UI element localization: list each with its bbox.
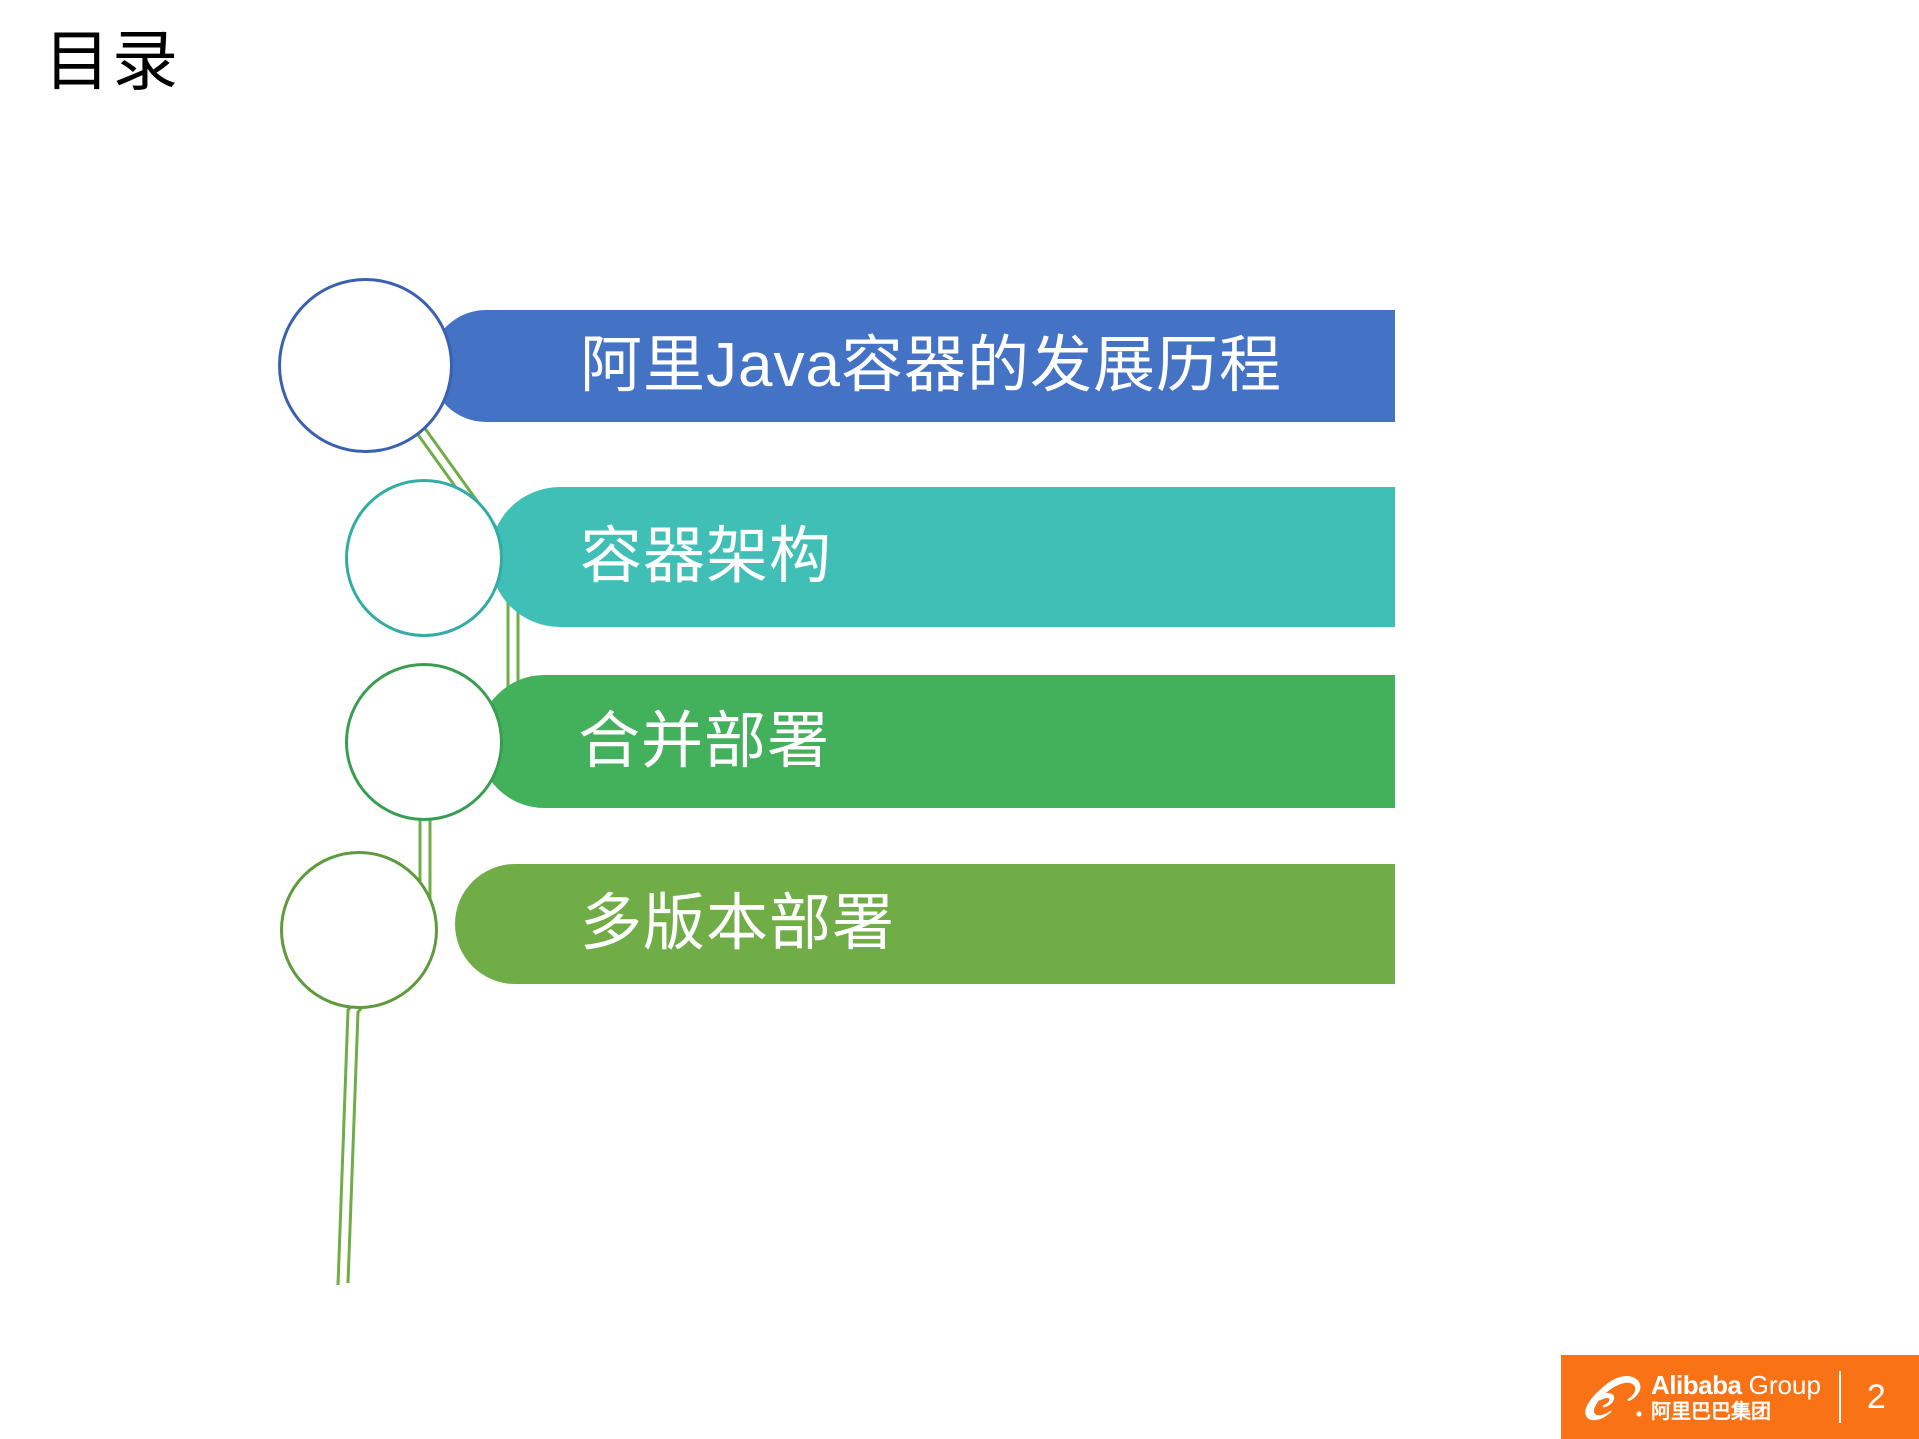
toc-bar-3[interactable]: 合并部署 — [478, 675, 1395, 808]
toc-label-4: 多版本部署 — [580, 893, 895, 955]
logo-chinese-text: 阿里巴巴集团 — [1651, 1402, 1821, 1422]
alibaba-logo-icon — [1577, 1369, 1649, 1425]
footer-logo-block: Alibaba Group 阿里巴巴集团 2 — [1561, 1355, 1919, 1439]
logo-english-text: Alibaba Group — [1651, 1372, 1821, 1398]
toc-list: 阿里Java容器的发展历程 容器架构 合并部署 多版本部署 — [0, 0, 1919, 1439]
toc-bar-1[interactable]: 阿里Java容器的发展历程 — [430, 310, 1395, 422]
toc-bar-2[interactable]: 容器架构 — [490, 487, 1395, 627]
toc-circle-3[interactable] — [345, 663, 503, 821]
logo-brand-text: Alibaba — [1651, 1370, 1741, 1400]
alibaba-wordmark: Alibaba Group 阿里巴巴集团 — [1651, 1372, 1821, 1422]
footer-divider — [1839, 1371, 1841, 1423]
toc-bar-4[interactable]: 多版本部署 — [455, 864, 1395, 984]
toc-label-3: 合并部署 — [578, 711, 830, 773]
toc-label-2: 容器架构 — [580, 526, 832, 588]
toc-circle-1[interactable] — [278, 278, 453, 453]
toc-label-1: 阿里Java容器的发展历程 — [580, 335, 1282, 397]
logo-group-text: Group — [1749, 1370, 1821, 1400]
toc-circle-4[interactable] — [280, 851, 438, 1009]
page-number: 2 — [1867, 1380, 1886, 1414]
toc-circle-2[interactable] — [345, 479, 503, 637]
